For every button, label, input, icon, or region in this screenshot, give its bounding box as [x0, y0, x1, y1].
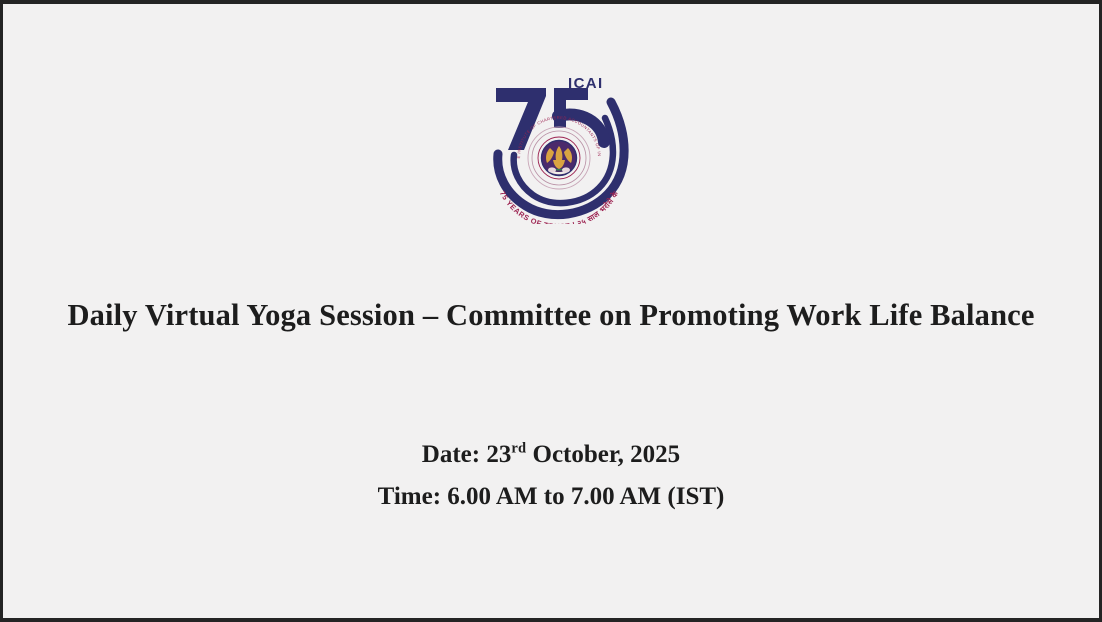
date-day: 23 [486, 441, 511, 468]
date-label: Date: [422, 441, 487, 468]
page-title: Daily Virtual Yoga Session – Committee o… [3, 298, 1099, 332]
logo-icai-text: ICAI [568, 75, 604, 92]
session-details: Date: 23rd October, 2025 Time: 6.00 AM t… [3, 434, 1099, 518]
presentation-slide: ICAI [0, 0, 1102, 622]
logo-garuda-figure [546, 146, 572, 174]
session-date-line: Date: 23rd October, 2025 [3, 434, 1099, 476]
date-ordinal-suffix: rd [511, 441, 526, 457]
date-month-year: October, 2025 [526, 441, 680, 468]
session-time-line: Time: 6.00 AM to 7.00 AM (IST) [3, 476, 1099, 518]
icai-75-years-logo: ICAI [484, 66, 634, 224]
